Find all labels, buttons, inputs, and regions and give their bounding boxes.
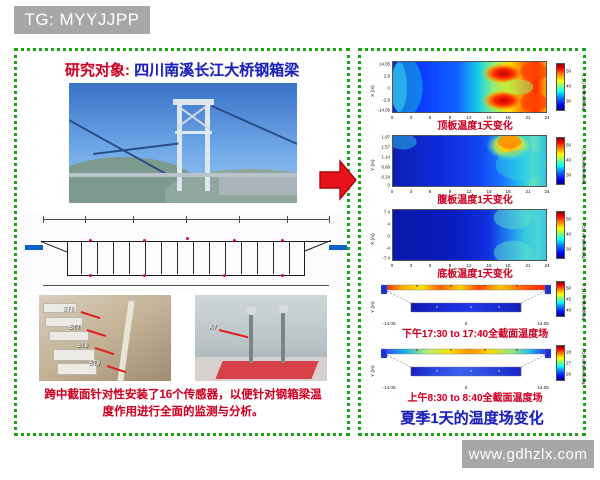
chart4-colorbar: 50 45 40 (556, 281, 565, 317)
chart2-cb-tick-2: 30 (566, 172, 571, 177)
chart4-cb-tick-0: 50 (566, 286, 571, 291)
chart1-plot-area (392, 61, 547, 113)
right-results-panel: X (m) 14.05 2.8 0 -2.8 -14.05 (358, 48, 586, 436)
chart5-colorbar-label: Temperature (°C ) (581, 348, 586, 385)
chart5-caption: 上午8:30 to 8:40全截面温度场 (365, 389, 585, 404)
chart2-ytick-1: 1.57 (374, 145, 390, 150)
page-title-subject: 四川南溪长江大桥钢箱梁 (134, 62, 299, 79)
chart-web-plate: Y (m) 1.97 1.57 1.14 0.68 0.24 0 (365, 129, 585, 201)
chart5-cb-tick-0: 28 (566, 350, 571, 355)
watermark-bottom: www.gdhzlx.com (462, 440, 594, 468)
chart2-colorbar-label: Temperature (°C ) (581, 148, 586, 185)
chart1-cb-tick-1: 40 (566, 84, 571, 89)
chart5-cb-tick-1: 27 (566, 361, 571, 366)
chart3-colorbar: 50 40 30 (556, 211, 565, 259)
chart1-colorbar-label: Temperature (°C ) (581, 74, 586, 111)
chart1-ytick-0: 14.05 (374, 62, 390, 67)
chart4-colorbar-label: Temperature (°C ) (581, 284, 586, 321)
chart3-colorbar-label: Temperature (°C ) (581, 222, 586, 259)
chart-top-plate: X (m) 14.05 2.8 0 -2.8 -14.05 (365, 55, 585, 127)
sensor-label-st9: ST9 (89, 361, 100, 367)
chart5-section-graphic (381, 345, 551, 383)
chart4-cb-tick-1: 45 (566, 297, 571, 302)
chart3-ytick-1: 4 (374, 222, 390, 227)
chart3-cb-tick-1: 40 (566, 232, 571, 237)
chart4-ylabel: Y (m) (371, 301, 376, 313)
chart1-cb-tick-2: 30 (566, 98, 571, 103)
right-panel-summary-title: 夏季1天的温度场变化 (361, 407, 583, 428)
chart3-ytick-4: -7.4 (374, 256, 390, 261)
caption-line-1: 跨中截面针对性安装了16个传感器，以便针对钢箱梁温 (23, 387, 343, 404)
left-content-panel: 研究对象: 四川南溪长江大桥钢箱梁 (14, 48, 350, 436)
sensor-label-st6: ST6 (63, 307, 74, 313)
chart3-cb-tick-0: 50 (566, 217, 571, 222)
sensor-installation-photo: ST6 ST7 ST8 ST9 (39, 295, 171, 381)
chart2-cb-tick-0: 50 (566, 143, 571, 148)
chart3-ytick-0: 7.4 (374, 210, 390, 215)
bridge-photo (69, 83, 297, 203)
chart3-plot-area (392, 209, 547, 261)
chart1-ytick-1: 2.8 (374, 74, 390, 79)
chart2-cb-tick-1: 40 (566, 158, 571, 163)
chart3-cb-tick-2: 30 (566, 246, 571, 251)
chart2-ytick-5: 0 (374, 183, 390, 188)
chart3-ytick-3: -4 (374, 246, 390, 251)
chart2-ytick-0: 1.97 (374, 135, 390, 140)
box-girder-section-drawing (23, 211, 345, 291)
chart2-ytick-2: 1.14 (374, 155, 390, 160)
chart5-ylabel: Y (m) (371, 365, 376, 377)
chart2-plot-area (392, 135, 547, 187)
page-title-prefix: 研究对象: (65, 62, 130, 79)
chart4-cb-tick-2: 40 (566, 307, 571, 312)
chart2-colorbar: 50 40 30 (556, 137, 565, 185)
chart1-ytick-2: 0 (374, 86, 390, 91)
page-title: 研究对象: 四川南溪长江大桥钢箱梁 (17, 59, 347, 80)
chart1-ytick-3: -2.8 (374, 98, 390, 103)
chart1-colorbar: 50 40 30 (556, 63, 565, 111)
chart-bottom-plate: X (m) 7.4 4 0 -4 -7.4 (365, 203, 585, 275)
chart4-section-graphic (381, 281, 551, 319)
left-panel-caption: 跨中截面针对性安装了16个传感器，以便针对钢箱梁温 度作用进行全面的监测与分析。 (23, 387, 343, 420)
sensor-label-st8: ST8 (77, 343, 88, 349)
chart1-cb-tick-0: 50 (566, 69, 571, 74)
chart-section-pm: Y (m) (365, 277, 585, 339)
chart-section-am: Y (m) (365, 341, 585, 403)
chart5-cb-tick-2: 26 (566, 371, 571, 376)
watermark-top: TG: MYYJJPP (14, 6, 150, 34)
bridge-railing-photo: A7 (195, 295, 327, 381)
chart2-ytick-4: 0.24 (374, 175, 390, 180)
chart5-colorbar: 28 27 26 (556, 345, 565, 381)
caption-line-2: 度作用进行全面的监测与分析。 (23, 404, 343, 421)
sensor-label-st7: ST7 (69, 325, 80, 331)
sensor-label-a7: A7 (209, 325, 217, 331)
right-arrow-icon (318, 158, 358, 202)
chart3-ytick-2: 0 (374, 234, 390, 239)
chart4-caption: 下午17:30 to 17:40全截面温度场 (365, 325, 585, 340)
chart1-ytick-4: -14.05 (374, 108, 390, 113)
chart2-ytick-3: 0.68 (374, 165, 390, 170)
